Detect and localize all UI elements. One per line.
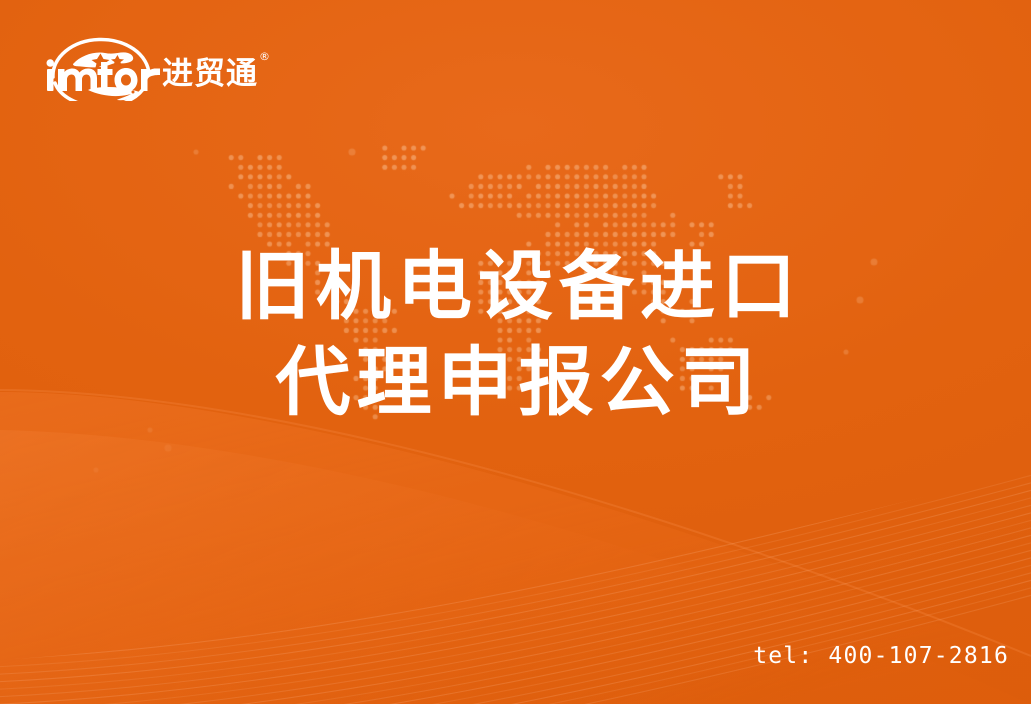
telephone-number[interactable]: tel: 400-107-2816 bbox=[753, 643, 1009, 669]
headline: 旧机电设备进口 代理申报公司 bbox=[0, 238, 1031, 430]
brand-logo[interactable]: 进贸通 ® bbox=[42, 30, 258, 102]
headline-line-1: 旧机电设备进口 bbox=[0, 238, 1031, 334]
promo-banner: 进贸通 ® 旧机电设备进口 代理申报公司 tel: 400-107-2816 bbox=[0, 0, 1031, 704]
logo-chinese-text: 进贸通 bbox=[162, 56, 258, 92]
headline-line-2: 代理申报公司 bbox=[0, 334, 1031, 430]
globe-swoosh-icon bbox=[42, 31, 160, 101]
logo-chinese-name: 进贸通 ® bbox=[162, 43, 258, 90]
registered-trademark-icon: ® bbox=[259, 51, 271, 62]
